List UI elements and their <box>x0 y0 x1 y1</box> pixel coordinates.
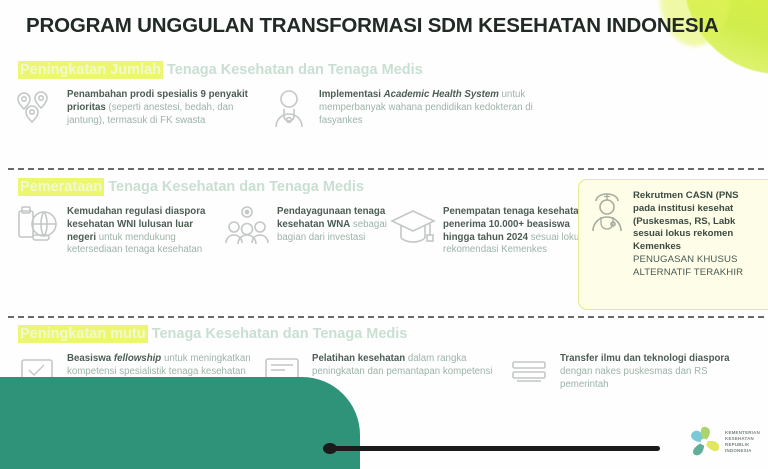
list-item[interactable]: Penempatan tenaga kesehatan penerima 10.… <box>390 203 586 257</box>
nurse-icon <box>586 189 628 233</box>
list-item-text: Kemudahan regulasi diaspora kesehatan WN… <box>67 203 224 257</box>
callout-text: Rekrutmen CASN (PNS pada institusi keseh… <box>633 189 743 279</box>
section-1-items: Penambahan prodi spesialis 9 penyakit pr… <box>14 86 536 132</box>
list-item-rest: dengan nakes puskesmas dan RS pemerintah <box>560 366 708 390</box>
list-item-italic: fellowship <box>114 353 161 364</box>
section-divider-1 <box>8 168 764 170</box>
callout-box[interactable]: Rekrutmen CASN (PNS pada institusi keseh… <box>578 179 768 310</box>
list-item-text: Implementasi Academic Health System untu… <box>319 86 536 127</box>
section-1-heading-highlight: Peningkatan Jumlah <box>18 61 163 79</box>
decorative-corner-green <box>0 377 360 469</box>
section-2-heading-highlight: Pemerataan <box>18 178 104 196</box>
kemenkes-logo-mark <box>687 425 721 459</box>
passport-stamp-icon <box>14 203 60 249</box>
doctor-icon <box>266 86 312 132</box>
section-1-heading: Peningkatan JumlahTenaga Kesehatan dan T… <box>18 62 423 78</box>
list-item-text: Penambahan prodi spesialis 9 penyakit pr… <box>67 86 266 127</box>
callout-line-4: sesuai lokus rekomen <box>633 228 743 241</box>
list-item[interactable]: Transfer ilmu dan teknologi diaspora den… <box>507 350 737 396</box>
bottom-bar <box>330 446 660 451</box>
callout-note-2: ALTERNATIF TERAKHIR <box>633 267 743 280</box>
section-3-heading-rest: Tenaga Kesehatan dan Tenaga Medis <box>152 326 408 342</box>
section-3-heading-highlight: Peningkatan mutu <box>18 325 148 343</box>
list-item[interactable]: Implementasi Academic Health System untu… <box>266 86 536 132</box>
list-item-bold: Pelatihan kesehatan <box>312 353 405 364</box>
callout-note-1: PENUGASAN KHUSUS <box>633 254 743 267</box>
list-item[interactable]: Penambahan prodi spesialis 9 penyakit pr… <box>14 86 266 132</box>
people-group-icon <box>224 203 270 249</box>
list-item-text: Pendayagunaan tenaga kesehatan WNA sebag… <box>277 203 390 244</box>
list-item-text: Beasiswa fellowship untuk meningkatkan k… <box>67 350 259 379</box>
list-item-italic: Academic Health System <box>384 89 499 100</box>
callout-line-1: Rekrutmen CASN (PNS <box>633 190 743 203</box>
callout-line-5: Kemenkes <box>633 241 743 254</box>
list-item-text: Transfer ilmu dan teknologi diaspora den… <box>560 350 737 391</box>
list-item-text: Penempatan tenaga kesehatan penerima 10.… <box>443 203 586 257</box>
knowledge-transfer-icon <box>507 350 553 396</box>
list-item[interactable]: Pendayagunaan tenaga kesehatan WNA sebag… <box>224 203 390 249</box>
section-2-heading-rest: Tenaga Kesehatan dan Tenaga Medis <box>108 179 364 195</box>
section-divider-2 <box>8 316 764 318</box>
list-item-bold: Beasiswa fellowship <box>67 353 161 364</box>
page-title: PROGRAM UNGGULAN TRANSFORMASI SDM KESEHA… <box>26 14 718 38</box>
section-2-heading: PemerataanTenaga Kesehatan dan Tenaga Me… <box>18 179 364 195</box>
callout-line-2: pada institusi kesehat <box>633 203 743 216</box>
location-pins-icon <box>14 86 60 132</box>
section-2-items: Kemudahan regulasi diaspora kesehatan WN… <box>14 203 586 257</box>
slide-canvas: PROGRAM UNGGULAN TRANSFORMASI SDM KESEHA… <box>0 0 768 469</box>
callout-line-3: (Puskesmas, RS, Labk <box>633 216 743 229</box>
list-item[interactable]: Kemudahan regulasi diaspora kesehatan WN… <box>14 203 224 257</box>
section-3-heading: Peningkatan mutuTenaga Kesehatan dan Ten… <box>18 326 407 342</box>
kemenkes-logo-text: KEMENTERIAN KESEHATAN REPUBLIK INDONESIA <box>725 430 760 454</box>
list-item-text: Pelatihan kesehatan dalam rangka peningk… <box>312 350 507 379</box>
list-item-bold: Implementasi Academic Health System <box>319 89 499 100</box>
kemenkes-logo: KEMENTERIAN KESEHATAN REPUBLIK INDONESIA <box>687 425 760 459</box>
graduation-cap-icon <box>390 203 436 249</box>
logo-line-4: INDONESIA <box>725 448 760 454</box>
list-item-bold: Transfer ilmu dan teknologi diaspora <box>560 353 730 364</box>
section-1-heading-rest: Tenaga Kesehatan dan Tenaga Medis <box>167 62 423 78</box>
